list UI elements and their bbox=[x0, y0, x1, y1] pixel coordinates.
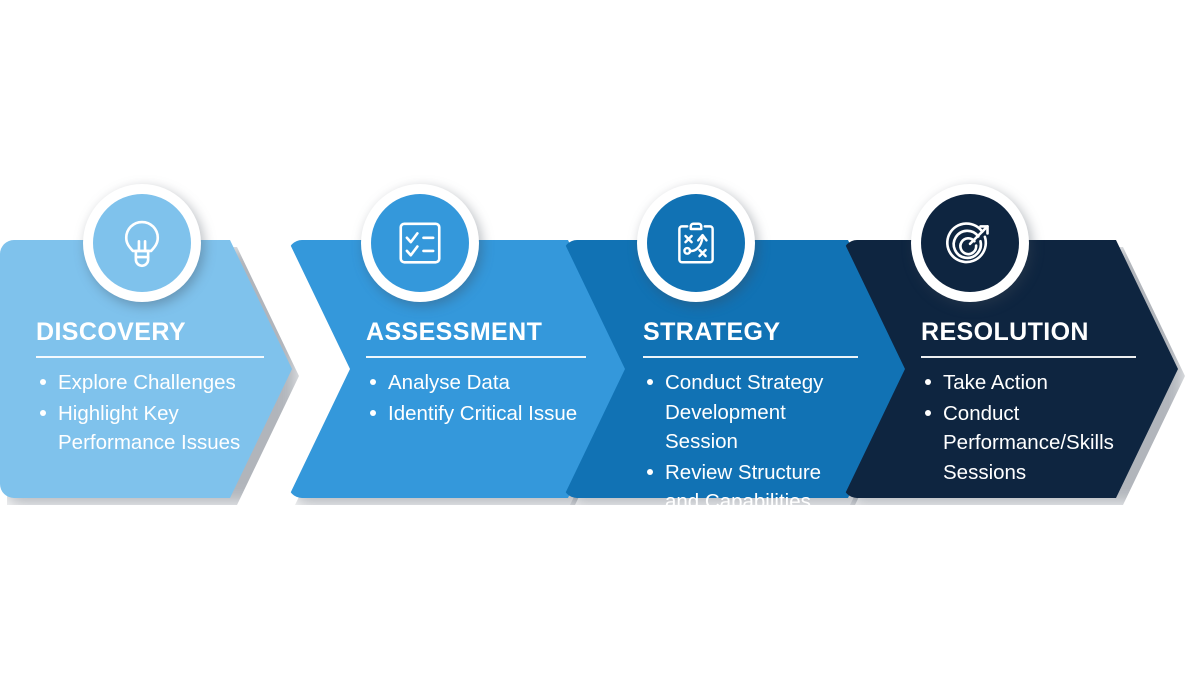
process-chevron-diagram: DISCOVERY Explore Challenges Highlight K… bbox=[0, 0, 1200, 700]
list-item: Identify Critical Issue bbox=[366, 399, 586, 429]
stage-text-block: STRATEGY Conduct Strategy Development Se… bbox=[643, 320, 858, 518]
stage-title: STRATEGY bbox=[643, 320, 858, 345]
stage-bullet-list: Explore Challenges Highlight Key Perform… bbox=[36, 368, 264, 458]
checklist-icon bbox=[392, 215, 448, 271]
list-item: Conduct Performance/Skills Sessions bbox=[921, 399, 1136, 488]
list-item: Conduct Strategy Development Session bbox=[643, 368, 858, 457]
stage-title: ASSESSMENT bbox=[366, 320, 586, 345]
stage-text-block: DISCOVERY Explore Challenges Highlight K… bbox=[36, 320, 264, 459]
stage-bullet-list: Analyse Data Identify Critical Issue bbox=[366, 368, 586, 428]
target-bullseye-icon bbox=[942, 215, 998, 271]
playbook-strategy-icon bbox=[668, 215, 724, 271]
stage-title: DISCOVERY bbox=[36, 320, 264, 345]
stage-bullet-list: Conduct Strategy Development Session Rev… bbox=[643, 368, 858, 517]
title-divider bbox=[366, 356, 586, 358]
badge-inner-circle bbox=[93, 194, 191, 292]
list-item: Highlight Key Performance Issues bbox=[36, 399, 264, 458]
stage-badge-assessment[interactable] bbox=[361, 184, 479, 302]
stage-title: RESOLUTION bbox=[921, 320, 1136, 345]
stage-badge-discovery[interactable] bbox=[83, 184, 201, 302]
badge-inner-circle bbox=[647, 194, 745, 292]
stage-badge-strategy[interactable] bbox=[637, 184, 755, 302]
list-item: Review Structure and Capabilities bbox=[643, 458, 858, 517]
badge-inner-circle bbox=[921, 194, 1019, 292]
list-item: Analyse Data bbox=[366, 368, 586, 398]
title-divider bbox=[921, 356, 1136, 358]
title-divider bbox=[643, 356, 858, 358]
list-item: Take Action bbox=[921, 368, 1136, 398]
stage-badge-resolution[interactable] bbox=[911, 184, 1029, 302]
stage-bullet-list: Take Action Conduct Performance/Skills S… bbox=[921, 368, 1136, 487]
stage-text-block: RESOLUTION Take Action Conduct Performan… bbox=[921, 320, 1136, 488]
stage-text-block: ASSESSMENT Analyse Data Identify Critica… bbox=[366, 320, 586, 429]
title-divider bbox=[36, 356, 264, 358]
badge-inner-circle bbox=[371, 194, 469, 292]
list-item: Explore Challenges bbox=[36, 368, 264, 398]
lightbulb-icon bbox=[114, 215, 170, 271]
